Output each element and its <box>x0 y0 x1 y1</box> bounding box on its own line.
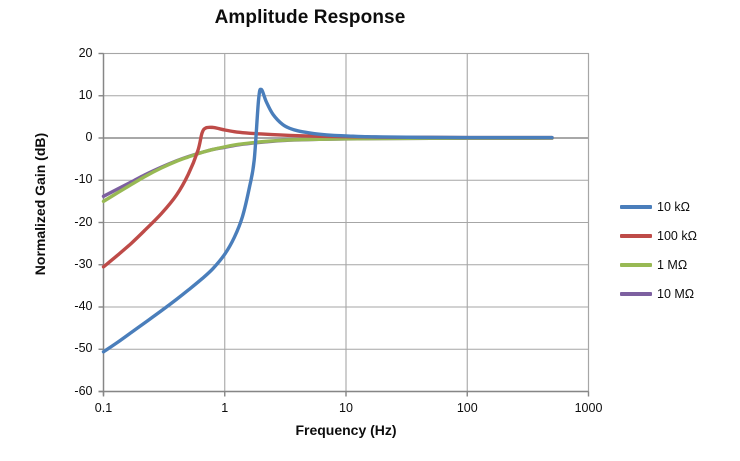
amplitude-response-chart: Amplitude Response Normalized Gain (dB) … <box>0 0 740 461</box>
y-tick-label: -30 <box>53 257 93 271</box>
x-tick-label: 100 <box>437 401 497 415</box>
legend-color-swatch <box>620 292 652 296</box>
y-tick-label: 20 <box>53 46 93 60</box>
y-tick-label: -20 <box>53 215 93 229</box>
y-tick-label: -60 <box>53 384 93 398</box>
chart-legend: 10 kΩ100 kΩ1 MΩ10 MΩ <box>620 192 697 308</box>
legend-item-label: 10 kΩ <box>657 200 690 214</box>
legend-item[interactable]: 10 MΩ <box>620 279 697 308</box>
legend-color-swatch <box>620 205 652 209</box>
legend-item-label: 10 MΩ <box>657 287 694 301</box>
x-axis-title: Frequency (Hz) <box>103 422 589 438</box>
y-tick-label: 10 <box>53 88 93 102</box>
legend-item[interactable]: 10 kΩ <box>620 192 697 221</box>
y-tick-label: 0 <box>53 130 93 144</box>
legend-item-label: 1 MΩ <box>657 258 687 272</box>
legend-color-swatch <box>620 263 652 267</box>
y-axis-title: Normalized Gain (dB) <box>32 94 48 314</box>
y-tick-label: -10 <box>53 172 93 186</box>
legend-item[interactable]: 1 MΩ <box>620 250 697 279</box>
y-tick-label: -40 <box>53 299 93 313</box>
y-tick-label: -50 <box>53 341 93 355</box>
x-tick-label: 1000 <box>559 401 619 415</box>
legend-color-swatch <box>620 234 652 238</box>
x-tick-label: 10 <box>316 401 376 415</box>
legend-item-label: 100 kΩ <box>657 229 697 243</box>
legend-item[interactable]: 100 kΩ <box>620 221 697 250</box>
x-tick-label: 1 <box>195 401 255 415</box>
x-tick-label: 0.1 <box>74 401 134 415</box>
